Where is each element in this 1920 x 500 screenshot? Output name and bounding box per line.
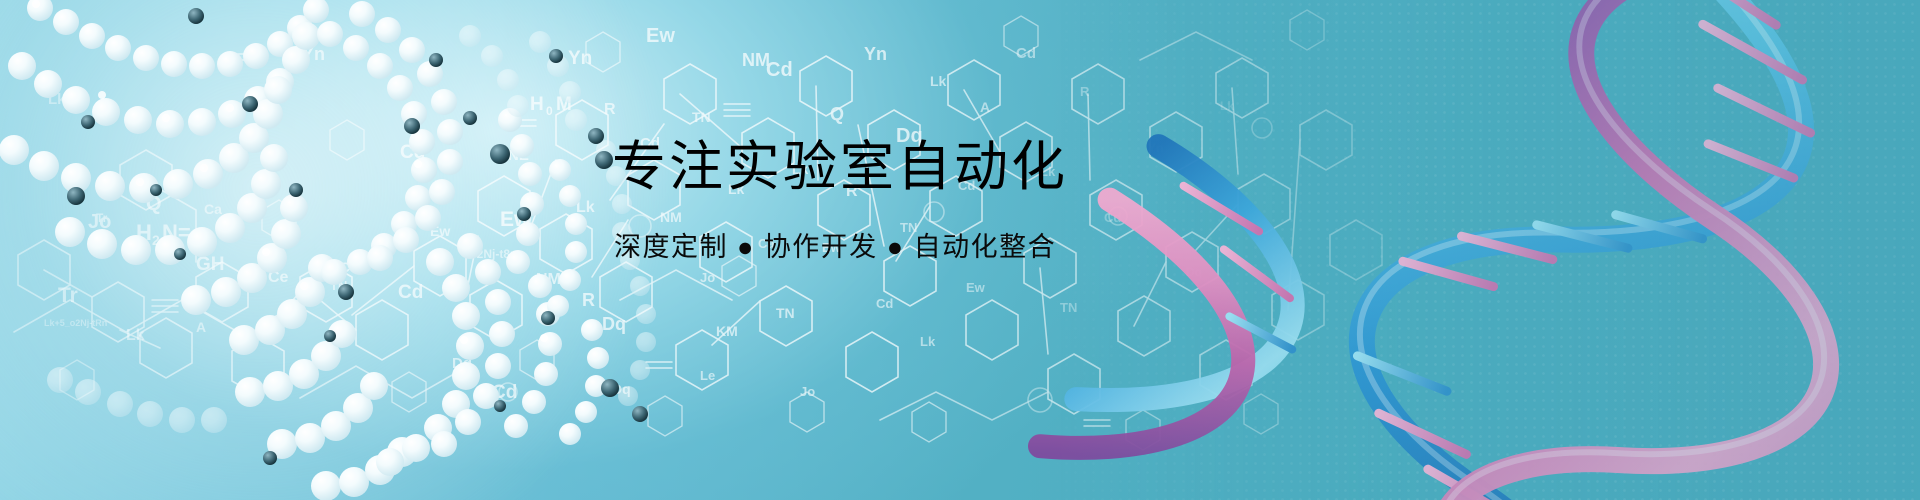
laboratory-automation-banner: Tr Lk Lk+5_o2Nj-tRn Jo Tr H 2 N= GH Q Ca…: [0, 0, 1920, 500]
page-title: 专注实验室自动化: [612, 140, 1252, 194]
banner-subtitle: 深度定制 ● 协作开发 ● 自动化整合: [614, 234, 1252, 261]
banner-text-block: 专注实验室自动化 深度定制 ● 协作开发 ● 自动化整合: [612, 140, 1252, 261]
